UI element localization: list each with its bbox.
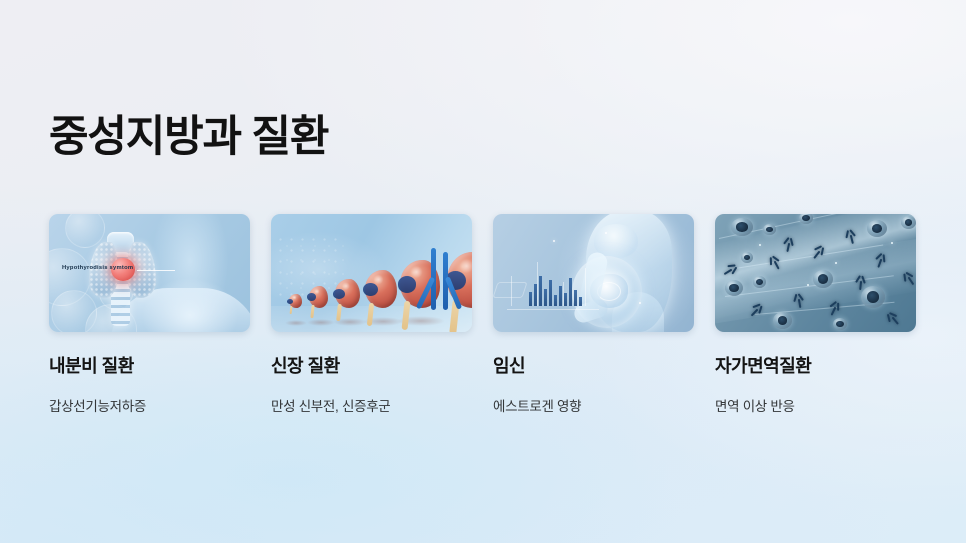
- slide-stage: 중성지방과 질환 Hypothy: [0, 0, 966, 543]
- disease-card-kidney[interactable]: 신장 질환 만성 신부전, 신증후군: [271, 214, 472, 415]
- immune-cell: [833, 318, 847, 330]
- immune-cell: [725, 280, 743, 296]
- sparkle: [759, 244, 761, 246]
- molecule-graphic: [493, 282, 528, 298]
- immune-cell: [763, 224, 776, 235]
- card-subtitle: 면역 이상 반응: [715, 395, 916, 415]
- antibody-immune-cells-image: [715, 214, 916, 332]
- kidney-progression-image: [271, 214, 472, 332]
- kidney-stage-3: [335, 279, 360, 308]
- thyroid-gland-image: Hypothyrodisis symtom: [49, 214, 250, 332]
- card-title: 내분비 질환: [49, 352, 250, 378]
- disease-card-endocrine[interactable]: Hypothyrodisis symtom 내분비 질환 갑상선기능저하증: [49, 214, 250, 415]
- immune-cell: [753, 276, 766, 288]
- disease-card-list: Hypothyrodisis symtom 내분비 질환 갑상선기능저하증: [49, 214, 917, 415]
- image-caption: Hypothyrodisis symtom: [62, 265, 133, 271]
- kidney-reflection: [307, 319, 335, 326]
- disease-card-pregnancy[interactable]: 임신 에스트로겐 영향: [493, 214, 694, 415]
- antibody-icon: [882, 307, 905, 330]
- kidney-stage-4: [365, 270, 397, 308]
- immune-cell: [901, 216, 916, 229]
- bokeh-circle: [65, 214, 105, 248]
- sparkle: [807, 284, 809, 286]
- sparkle: [639, 302, 641, 304]
- sparkle: [835, 262, 837, 264]
- sparkle: [605, 232, 607, 234]
- card-subtitle: 만성 신부전, 신증후군: [271, 395, 472, 415]
- card-title: 신장 질환: [271, 352, 472, 378]
- sparkle: [553, 240, 555, 242]
- antibody-icon: [852, 273, 870, 291]
- immune-cell: [773, 312, 792, 329]
- page-title: 중성지방과 질환: [49, 113, 328, 161]
- pregnancy-silhouette-image: [493, 214, 694, 332]
- caption-leader-line: [137, 270, 175, 271]
- card-subtitle: 에스트로겐 영향: [493, 395, 694, 415]
- immune-cell: [731, 218, 753, 236]
- card-subtitle: 갑상선기능저하증: [49, 395, 250, 415]
- card-title: 임신: [493, 352, 694, 378]
- antibody-icon: [780, 235, 799, 254]
- disease-card-autoimmune[interactable]: 자가면역질환 면역 이상 반응: [715, 214, 916, 415]
- card-title: 자가면역질환: [715, 352, 916, 378]
- sparkle: [891, 242, 893, 244]
- immune-cell: [741, 252, 753, 263]
- immune-cell: [867, 220, 887, 237]
- antibody-icon: [790, 291, 809, 310]
- immune-cell: [813, 270, 833, 288]
- kidney-reflection: [285, 320, 307, 326]
- kidney-stage-1: [289, 294, 302, 308]
- kidney-stage-2: [309, 286, 328, 308]
